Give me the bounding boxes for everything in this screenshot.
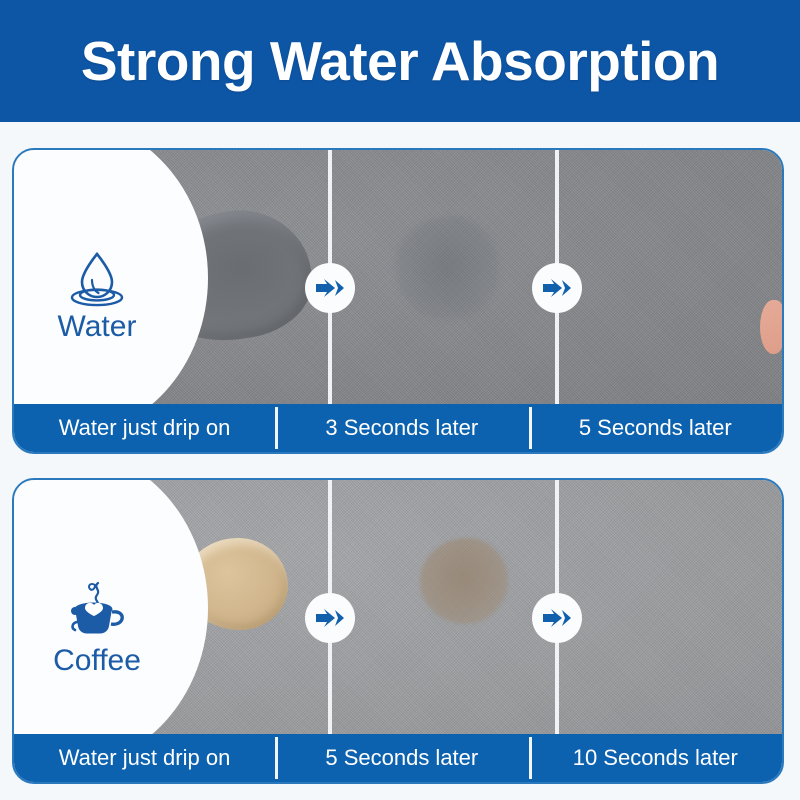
caption-coffee-2: 10 Seconds later (529, 734, 782, 782)
arrow-badge-2 (532, 263, 582, 313)
caption-bar-water: Water just drip on 3 Seconds later 5 Sec… (14, 404, 782, 452)
caption-coffee-0: Water just drip on (14, 734, 275, 782)
double-chevron-right-icon (315, 608, 345, 628)
water-drop-icon (70, 250, 124, 308)
coffee-label-text: Coffee (22, 646, 172, 676)
water-stain-damp (395, 216, 499, 320)
demo-panel-water: Water Water just drip on 3 Seconds later… (12, 148, 784, 454)
double-chevron-right-icon (315, 278, 345, 298)
arrow-badge-2 (532, 593, 582, 643)
caption-bar-coffee: Water just drip on 5 Seconds later 10 Se… (14, 734, 782, 782)
caption-coffee-1: 5 Seconds later (275, 734, 528, 782)
coffee-stain-damp (420, 538, 508, 624)
surface-photo-coffee: Coffee (14, 480, 782, 734)
double-chevron-right-icon (542, 608, 572, 628)
caption-water-2: 5 Seconds later (529, 404, 782, 452)
demo-panel-coffee: Coffee Water just drip on 5 Seconds late… (12, 478, 784, 784)
page-title: Strong Water Absorption (81, 29, 719, 93)
arrow-badge-1 (305, 593, 355, 643)
header-banner: Strong Water Absorption (0, 0, 800, 122)
double-chevron-right-icon (542, 278, 572, 298)
coffee-label-group: Coffee (22, 580, 172, 676)
arrow-badge-1 (305, 263, 355, 313)
coffee-cup-icon (64, 580, 130, 642)
caption-water-1: 3 Seconds later (275, 404, 528, 452)
water-label-group: Water (22, 250, 172, 342)
finger-artifact (760, 300, 784, 354)
surface-photo-water: Water (14, 150, 782, 404)
water-label-text: Water (22, 312, 172, 342)
caption-water-0: Water just drip on (14, 404, 275, 452)
